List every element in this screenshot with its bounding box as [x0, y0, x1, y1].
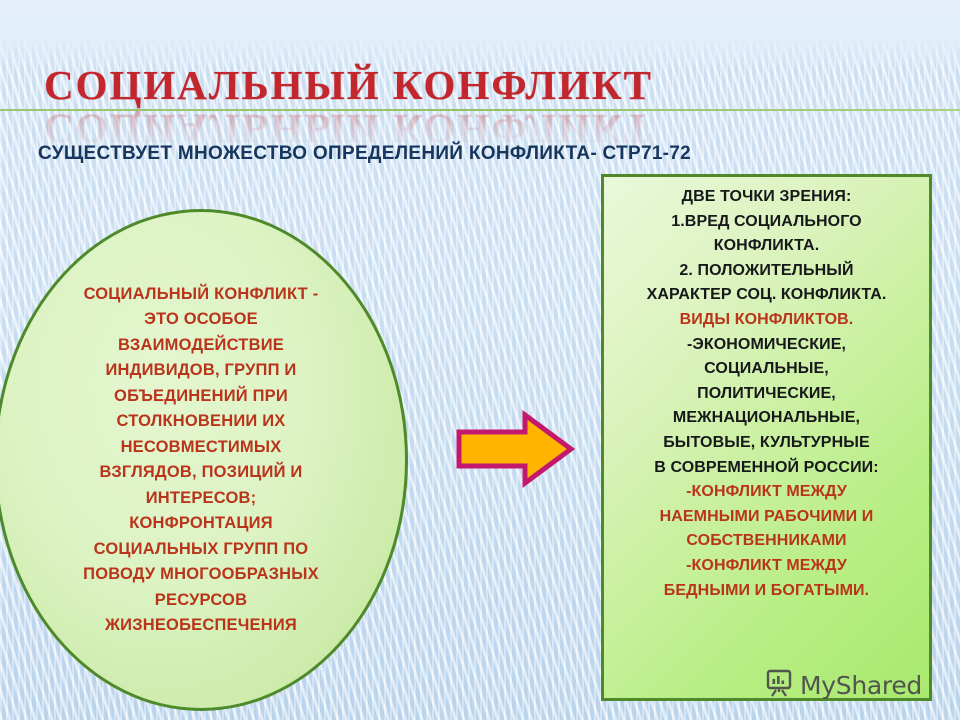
text-line: БЕДНЫМИ И БОГАТЫМИ. — [610, 579, 923, 604]
viewpoints-text-box: ДВЕ ТОЧКИ ЗРЕНИЯ:1.ВРЕД СОЦИАЛЬНОГОКОНФЛ… — [601, 174, 932, 701]
text-line: НЕСОВМЕСТИМЫХ — [51, 435, 351, 461]
text-line: В СОВРЕМЕННОЙ РОССИИ: — [610, 456, 923, 481]
title-divider-rule — [0, 109, 960, 111]
text-line: НАЕМНЫМИ РАБОЧИМИ И — [610, 505, 923, 530]
text-line: ВЗАИМОДЕЙСТВИЕ — [51, 333, 351, 359]
text-line: ИНДИВИДОВ, ГРУПП И — [51, 358, 351, 384]
text-line: СОЦИАЛЬНЫХ ГРУПП ПО — [51, 537, 351, 563]
text-line: -КОНФЛИКТ МЕЖДУ — [610, 554, 923, 579]
slide-title-block: СОЦИАЛЬНЫЙ КОНФЛИКТ СОЦИАЛЬНЫЙ КОНФЛИКТ — [44, 62, 924, 140]
myshared-watermark: MyShared — [764, 668, 922, 703]
text-line: СОБСТВЕННИКАМИ — [610, 529, 923, 554]
text-line: СОЦИАЛЬНЫЙ КОНФЛИКТ - — [51, 282, 351, 308]
text-line: ВИДЫ КОНФЛИКТОВ. — [610, 308, 923, 333]
right-arrow-icon — [455, 410, 575, 488]
viewpoints-text: ДВЕ ТОЧКИ ЗРЕНИЯ:1.ВРЕД СОЦИАЛЬНОГОКОНФЛ… — [610, 185, 923, 603]
text-line: СТОЛКНОВЕНИИ ИХ — [51, 409, 351, 435]
text-line: СОЦИАЛЬНЫЕ, — [610, 357, 923, 382]
text-line: БЫТОВЫЕ, КУЛЬТУРНЫЕ — [610, 431, 923, 456]
text-line: МЕЖНАЦИОНАЛЬНЫЕ, — [610, 406, 923, 431]
text-line: 1.ВРЕД СОЦИАЛЬНОГО — [610, 210, 923, 235]
text-line: ДВЕ ТОЧКИ ЗРЕНИЯ: — [610, 185, 923, 210]
text-line: -КОНФЛИКТ МЕЖДУ — [610, 480, 923, 505]
text-line: РЕСУРСОВ — [51, 588, 351, 614]
text-line: ПОЛИТИЧЕСКИЕ, — [610, 382, 923, 407]
slide-subtitle: СУЩЕСТВУЕТ МНОЖЕСТВО ОПРЕДЕЛЕНИЙ КОНФЛИК… — [38, 143, 691, 165]
text-line: -ЭКОНОМИЧЕСКИЕ, — [610, 333, 923, 358]
text-line: КОНФРОНТАЦИЯ — [51, 511, 351, 537]
page-title: СОЦИАЛЬНЫЙ КОНФЛИКТ — [44, 62, 924, 108]
text-line: ХАРАКТЕР СОЦ. КОНФЛИКТА. — [610, 283, 923, 308]
flipchart-chart-icon — [764, 668, 794, 703]
text-line: ЖИЗНЕОБЕСПЕЧЕНИЯ — [51, 613, 351, 639]
myshared-watermark-label: MyShared — [800, 671, 922, 700]
text-line: 2. ПОЛОЖИТЕЛЬНЫЙ — [610, 259, 923, 284]
definition-ellipse-shape: СОЦИАЛЬНЫЙ КОНФЛИКТ -ЭТО ОСОБОЕВЗАИМОДЕЙ… — [0, 209, 408, 711]
text-line: КОНФЛИКТА. — [610, 234, 923, 259]
text-line: ПОВОДУ МНОГООБРАЗНЫХ — [51, 562, 351, 588]
text-line: ОБЪЕДИНЕНИЙ ПРИ — [51, 384, 351, 410]
definition-ellipse-text: СОЦИАЛЬНЫЙ КОНФЛИКТ -ЭТО ОСОБОЕВЗАИМОДЕЙ… — [51, 282, 351, 639]
text-line: ЭТО ОСОБОЕ — [51, 307, 351, 333]
text-line: ИНТЕРЕСОВ; — [51, 486, 351, 512]
background-top-fade — [0, 0, 960, 70]
text-line: ВЗГЛЯДОВ, ПОЗИЦИЙ И — [51, 460, 351, 486]
slide-canvas: СОЦИАЛЬНЫЙ КОНФЛИКТ СОЦИАЛЬНЫЙ КОНФЛИКТ … — [0, 0, 960, 720]
